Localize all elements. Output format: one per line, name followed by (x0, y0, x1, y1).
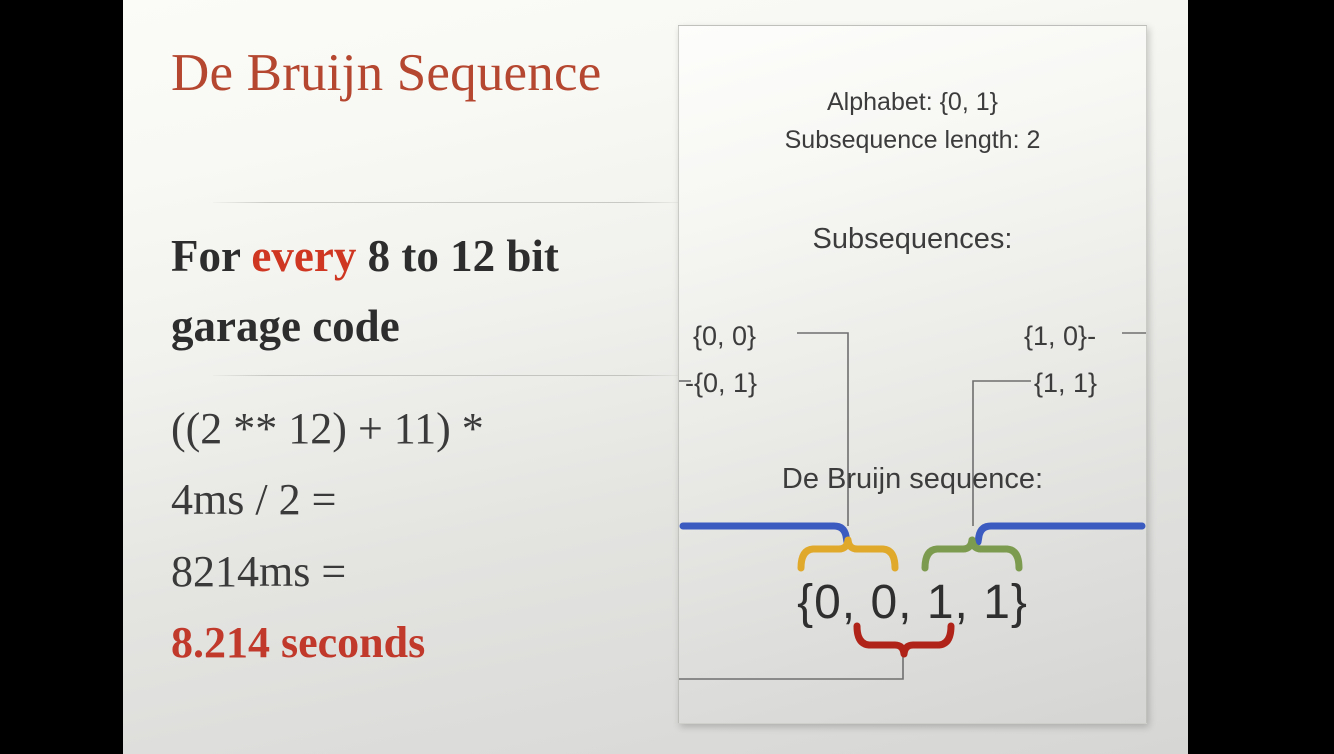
brace-yellow (801, 540, 895, 568)
brace-green (925, 540, 1019, 568)
brace-group (679, 26, 1146, 723)
brace-blue-right (978, 526, 1142, 542)
formula-line-2: 4ms / 2 = (171, 464, 681, 535)
statement-text: For every 8 to 12 bit garage code (171, 222, 681, 362)
formula-line-1: ((2 ** 12) + 11) * (171, 393, 681, 464)
formula-block: ((2 ** 12) + 11) * 4ms / 2 = 8214ms = 8.… (171, 393, 681, 678)
page-title: De Bruijn Sequence (171, 46, 601, 102)
statement-prefix: For (171, 231, 251, 281)
section-divider-top (213, 202, 683, 203)
letterbox-right (1188, 0, 1334, 754)
section-divider-bottom (213, 375, 683, 376)
brace-red (857, 626, 951, 654)
brace-blue-left (683, 526, 847, 542)
slide-frame: De Bruijn Sequence For every 8 to 12 bit… (0, 0, 1334, 754)
slide-surface: De Bruijn Sequence For every 8 to 12 bit… (123, 0, 1188, 754)
formula-line-3: 8214ms = (171, 536, 681, 607)
left-column: De Bruijn Sequence For every 8 to 12 bit… (169, 0, 689, 754)
formula-result: 8.214 seconds (171, 607, 681, 678)
statement-accent: every (251, 231, 356, 281)
letterbox-left (0, 0, 123, 754)
diagram-card: Alphabet: {0, 1} Subsequence length: 2 S… (678, 25, 1147, 724)
